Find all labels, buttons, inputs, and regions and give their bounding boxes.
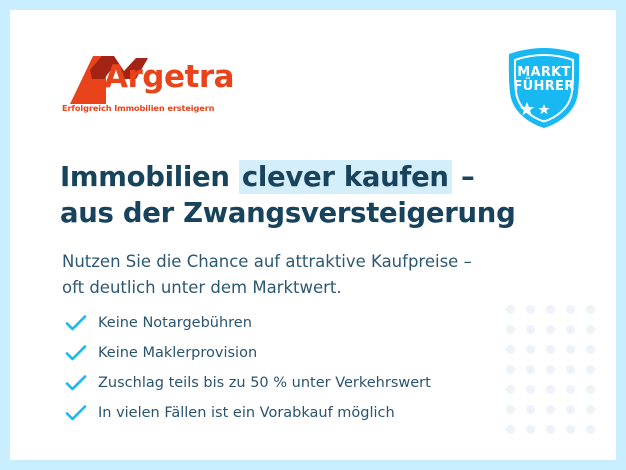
decorative-dot [546, 345, 555, 354]
list-item: Keine Maklerprovision [64, 338, 534, 368]
benefit-label: In vielen Fällen ist ein Vorabkauf mögli… [98, 405, 395, 421]
list-item: Keine Notargebühren [64, 308, 534, 338]
decorative-dot [546, 385, 555, 394]
logo-wordmark: Argetra [104, 62, 234, 93]
decorative-dot [546, 325, 555, 334]
check-icon [64, 374, 88, 392]
decorative-dot [586, 365, 595, 374]
market-leader-badge: MARKT FÜHRER [501, 46, 587, 130]
check-icon [64, 344, 88, 362]
argetra-logo[interactable]: Argetra Erfolgreich Immobilien ersteiger… [62, 54, 212, 120]
check-icon [64, 314, 88, 332]
badge-stars [501, 101, 587, 117]
decorative-dot [586, 405, 595, 414]
decorative-dot [586, 345, 595, 354]
decorative-dot [546, 365, 555, 374]
decorative-dot [546, 425, 555, 434]
decorative-dot [566, 425, 575, 434]
decorative-dot [566, 385, 575, 394]
badge-line-2: FÜHRER [501, 80, 587, 94]
subheading-line-1: Nutzen Sie die Chance auf attraktive Kau… [62, 249, 552, 276]
headline-line-1: Immobilien clever kaufen – [60, 160, 474, 194]
decorative-dot [566, 365, 575, 374]
decorative-dot [566, 305, 575, 314]
list-item: Zuschlag teils bis zu 50 % unter Verkehr… [64, 368, 534, 398]
decorative-dot [566, 325, 575, 334]
decorative-dot [566, 405, 575, 414]
benefit-label: Zuschlag teils bis zu 50 % unter Verkehr… [98, 375, 431, 391]
headline-line-2: aus der Zwangsversteigerung [60, 197, 515, 229]
decorative-dot [566, 345, 575, 354]
decorative-dot [586, 385, 595, 394]
decorative-dot [586, 325, 595, 334]
logo-tagline: Erfolgreich Immobilien ersteigern [62, 103, 214, 113]
benefits-list: Keine Notargebühren Keine Maklerprovisio… [64, 308, 534, 428]
benefit-label: Keine Notargebühren [98, 315, 252, 331]
decorative-dot [586, 425, 595, 434]
decorative-dot [546, 405, 555, 414]
subheading-line-2: oft deutlich unter dem Marktwert. [62, 275, 552, 302]
list-item: In vielen Fällen ist ein Vorabkauf mögli… [64, 398, 534, 428]
page-title: Immobilien clever kaufen – aus der Zwang… [60, 160, 560, 232]
decorative-dot [546, 305, 555, 314]
check-icon [64, 404, 88, 422]
badge-line-1: MARKT [501, 66, 587, 80]
banner-card: Argetra Erfolgreich Immobilien ersteiger… [10, 10, 616, 460]
headline-highlight: clever kaufen [239, 160, 452, 194]
subheading: Nutzen Sie die Chance auf attraktive Kau… [62, 249, 552, 302]
decorative-dot [586, 305, 595, 314]
headline-part-before: Immobilien [60, 161, 239, 193]
benefit-label: Keine Maklerprovision [98, 345, 257, 361]
headline-part-after: – [452, 161, 475, 193]
promo-banner: Argetra Erfolgreich Immobilien ersteiger… [0, 0, 626, 470]
badge-label: MARKT FÜHRER [501, 66, 587, 94]
